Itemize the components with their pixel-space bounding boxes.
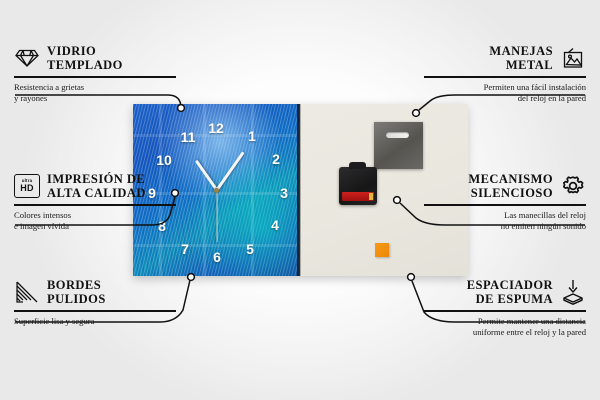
clock-numeral-4: 4 — [271, 218, 279, 232]
clock-center-pin — [214, 188, 219, 193]
feature-divider — [14, 76, 176, 78]
feature-header: ultra HD IMPRESIÓN DE ALTA CALIDAD — [14, 172, 176, 200]
hanger-slot — [386, 132, 409, 138]
clock-second-hand — [216, 190, 217, 242]
clock-numeral-3: 3 — [280, 186, 288, 200]
clock-numeral-1: 1 — [248, 129, 256, 143]
ultra-hd-icon-main-text: HD — [20, 184, 33, 193]
clock-numeral-10: 10 — [156, 153, 172, 167]
battery-terminal — [369, 193, 373, 200]
feature-header: BORDES PULIDOS — [14, 278, 176, 306]
gear-icon — [560, 173, 586, 199]
feature-title: MECANISMO SILENCIOSO — [468, 172, 553, 200]
feature-header: MECANISMO SILENCIOSO — [424, 172, 586, 200]
clock-numeral-7: 7 — [181, 242, 189, 256]
quartz-mechanism-box — [339, 167, 377, 205]
feature-mecanismo-silencioso[interactable]: MECANISMO SILENCIOSO Las manecillas del … — [424, 172, 586, 232]
diamond-icon — [14, 45, 40, 71]
artwork-gridline — [203, 104, 206, 276]
feature-header: VIDRIO TEMPLADO — [14, 44, 176, 72]
infographic-canvas: 12 1 2 3 4 5 6 7 8 9 10 11 — [0, 0, 600, 400]
mechanism-hook — [349, 162, 366, 169]
clock-minute-hand — [215, 151, 244, 191]
clock-numeral-6: 6 — [213, 250, 221, 264]
bevel-edge-icon — [14, 279, 40, 305]
feature-title: VIDRIO TEMPLADO — [47, 44, 123, 72]
foam-spacer — [375, 243, 389, 257]
feature-divider — [14, 310, 176, 312]
feature-description: Permite mantener una distancia uniforme … — [424, 316, 586, 339]
feature-divider — [14, 204, 176, 206]
ultra-hd-icon: ultra HD — [14, 173, 40, 199]
feature-header: MANEJAS METAL — [424, 44, 586, 72]
battery — [342, 192, 374, 201]
feature-divider — [424, 76, 586, 78]
artwork-gridline — [133, 244, 300, 247]
feature-header: ESPACIADOR DE ESPUMA — [424, 278, 586, 306]
feature-vidrio-templado[interactable]: VIDRIO TEMPLADO Resistencia a grietas y … — [14, 44, 176, 104]
feature-description: Resistencia a grietas y rayones — [14, 82, 176, 105]
clock-numeral-11: 11 — [181, 130, 196, 144]
feature-description: Permiten una fácil instalación del reloj… — [424, 82, 586, 105]
clock-numeral-5: 5 — [246, 242, 254, 256]
clock-hour-hand — [194, 160, 217, 191]
feature-divider — [424, 310, 586, 312]
feature-title: BORDES PULIDOS — [47, 278, 106, 306]
clock-numeral-2: 2 — [272, 152, 280, 166]
feature-description: Superficie lisa y segura — [14, 316, 176, 327]
clock-numeral-12: 12 — [208, 121, 224, 135]
feature-espaciador-espuma[interactable]: ESPACIADOR DE ESPUMA Permite mantener un… — [424, 278, 586, 338]
feature-manejas-metal[interactable]: MANEJAS METAL Permiten una fácil instala… — [424, 44, 586, 104]
foam-spacer-icon — [560, 279, 586, 305]
feature-description: Colores intensos e imagen vívida — [14, 210, 176, 233]
feature-description: Las manecillas del reloj no emiten ningú… — [424, 210, 586, 233]
feature-impresion-alta-calidad[interactable]: ultra HD IMPRESIÓN DE ALTA CALIDAD Color… — [14, 172, 176, 232]
product-photo: 12 1 2 3 4 5 6 7 8 9 10 11 — [133, 104, 467, 276]
picture-frame-icon — [560, 45, 586, 71]
feature-title: MANEJAS METAL — [489, 44, 553, 72]
feature-title: IMPRESIÓN DE ALTA CALIDAD — [47, 172, 146, 200]
feature-divider — [424, 204, 586, 206]
feature-bordes-pulidos[interactable]: BORDES PULIDOS Superficie lisa y segura — [14, 278, 176, 327]
metal-hanger-plate — [374, 122, 423, 169]
feature-title: ESPACIADOR DE ESPUMA — [467, 278, 553, 306]
